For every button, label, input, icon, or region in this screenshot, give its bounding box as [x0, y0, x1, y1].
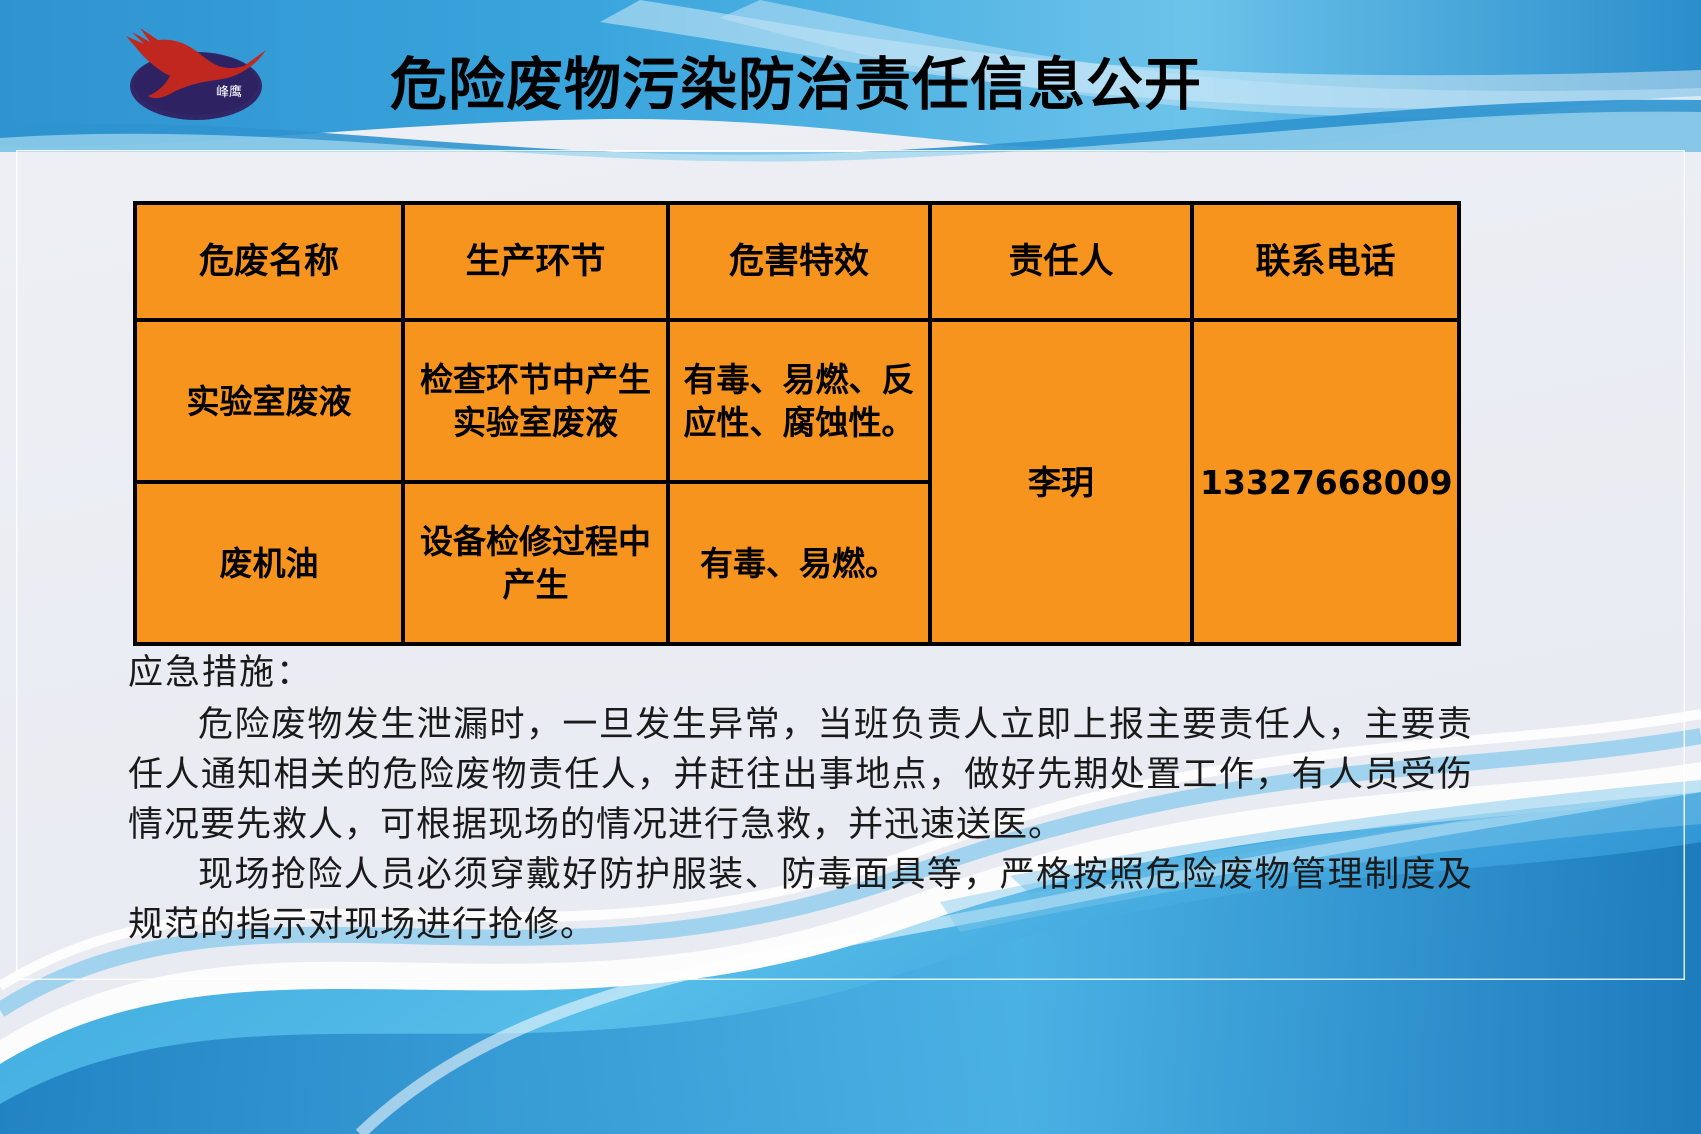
column-header-hazard-effect: 危害特效 [668, 203, 930, 320]
cell-hazard-effect-1: 有毒、易燃、反应性、腐蚀性。 [668, 320, 930, 482]
emergency-measures-section: 应急措施： 危险废物发生泄漏时，一旦发生异常，当班负责人立即上报主要责任人，主要… [128, 648, 1473, 950]
column-header-waste-name: 危废名称 [135, 203, 403, 320]
table-header-row: 危废名称 生产环节 危害特效 责任人 联系电话 [135, 203, 1459, 320]
cell-hazard-effect-2: 有毒、易燃。 [668, 482, 930, 644]
hazardous-waste-table: 危废名称 生产环节 危害特效 责任人 联系电话 实验室废液 检查环节中产生实验室… [133, 201, 1461, 646]
cell-production-stage-1: 检查环节中产生实验室废液 [403, 320, 668, 482]
slide-header: 峰鹰 危险废物污染防治责任信息公开 [0, 0, 1701, 152]
company-logo: 峰鹰 [104, 14, 294, 134]
cell-waste-name-1: 实验室废液 [135, 320, 403, 482]
page-title: 危险废物污染防治责任信息公开 [390, 52, 1290, 118]
table-row: 实验室废液 检查环节中产生实验室废液 有毒、易燃、反应性、腐蚀性。 李玥 133… [135, 320, 1459, 482]
logo-text: 峰鹰 [216, 84, 242, 100]
column-header-contact-phone: 联系电话 [1192, 203, 1459, 320]
emergency-paragraph-1: 危险废物发生泄漏时，一旦发生异常，当班负责人立即上报主要责任人，主要责任人通知相… [128, 700, 1473, 850]
cell-contact-phone: 13327668009 [1192, 320, 1459, 644]
cell-production-stage-2: 设备检修过程中产生 [403, 482, 668, 644]
hazardous-waste-table-container: 危废名称 生产环节 危害特效 责任人 联系电话 实验室废液 检查环节中产生实验室… [133, 201, 1457, 646]
emergency-paragraph-2: 现场抢险人员必须穿戴好防护服装、防毒面具等，严格按照危险废物管理制度及规范的指示… [128, 850, 1473, 950]
cell-responsible-person: 李玥 [930, 320, 1192, 644]
cell-waste-name-2: 废机油 [135, 482, 403, 644]
column-header-production-stage: 生产环节 [403, 203, 668, 320]
slide-canvas: 峰鹰 危险废物污染防治责任信息公开 危废名称 生产环节 危害特效 责任人 联系电… [0, 0, 1701, 1134]
emergency-measures-label: 应急措施： [128, 648, 1473, 698]
column-header-responsible-person: 责任人 [930, 203, 1192, 320]
